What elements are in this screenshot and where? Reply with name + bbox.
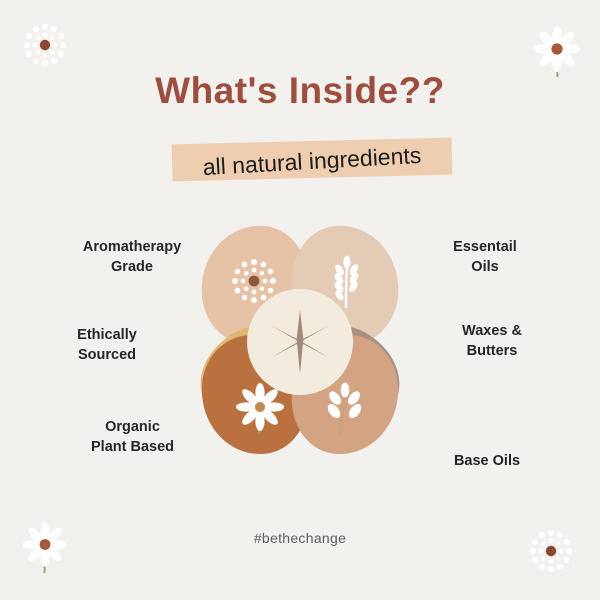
label-aromatherapy-grade: Aromatherapy Grade	[52, 238, 212, 277]
label-organic-plant-based: Organic Plant Based	[50, 418, 215, 457]
label-base-oils: Base Oils	[412, 452, 562, 472]
label-waxes-butters: Waxes & Butters	[412, 322, 572, 361]
white-daisy-icon-bottom-left	[16, 516, 74, 578]
dotted-daisy-icon-top-left	[14, 14, 76, 76]
flower-center[interactable]	[247, 289, 353, 395]
infographic-page: What's Inside?? all natural ingredients	[0, 0, 600, 600]
footer-hashtag: #bethechange	[0, 530, 600, 546]
label-essential-oils: Essentail Oils	[410, 238, 560, 277]
label-ethically-sourced: Ethically Sourced	[32, 326, 182, 365]
page-title: What's Inside??	[0, 70, 600, 112]
